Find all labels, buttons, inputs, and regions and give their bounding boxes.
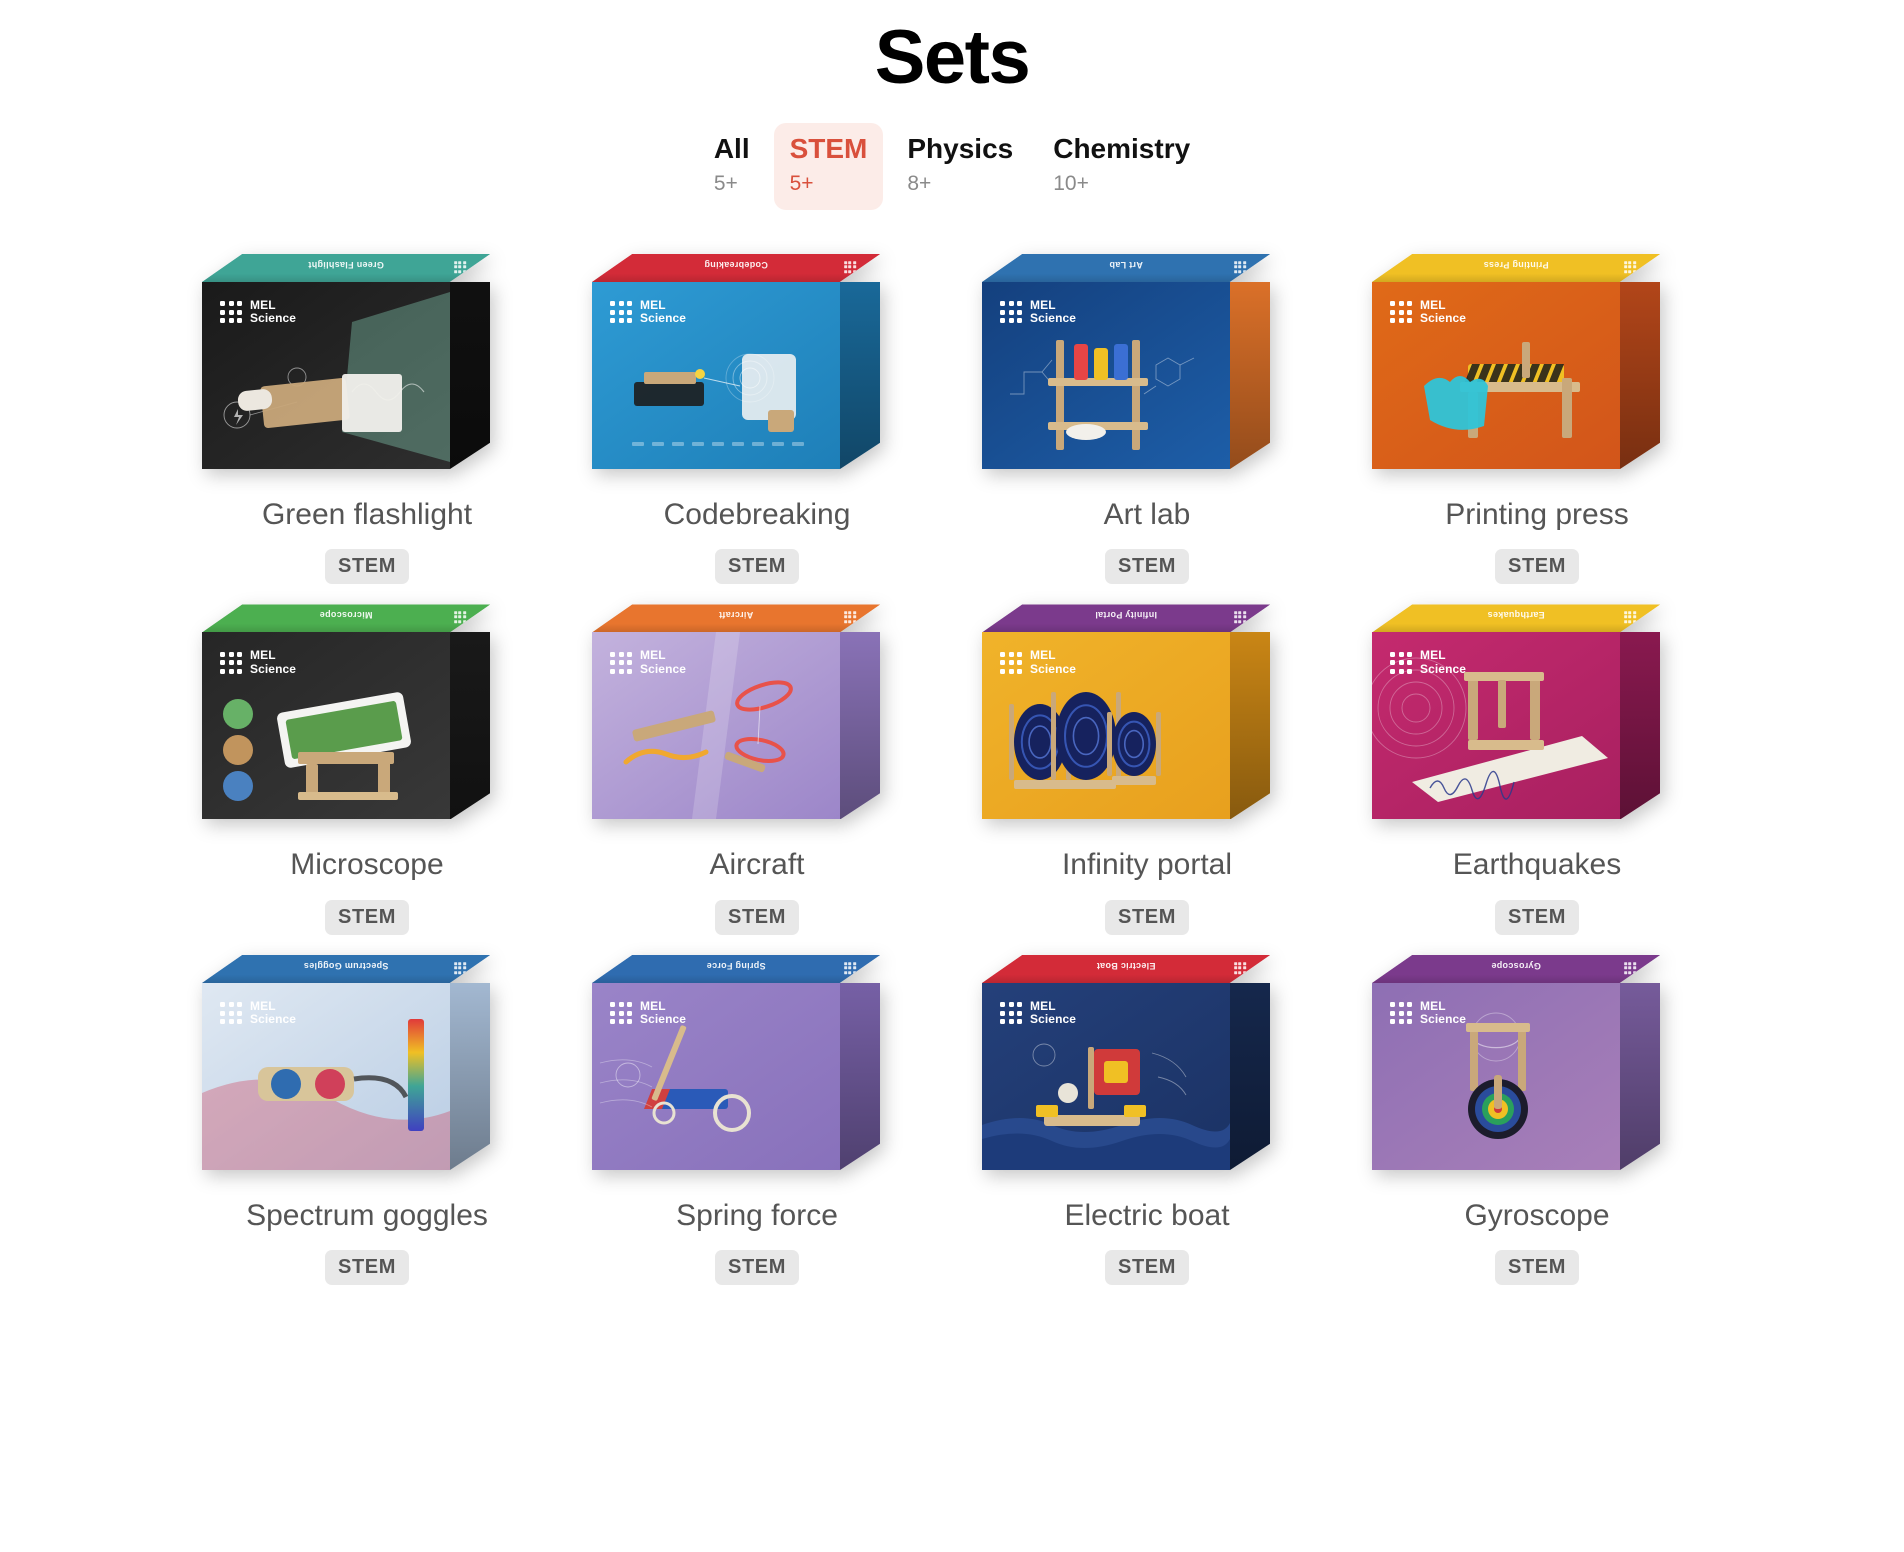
box-lid: Codebreaking (592, 254, 880, 282)
logo-wordmark: MEL Science (1030, 1000, 1076, 1027)
set-box-image: Infinity Portal (982, 604, 1312, 834)
lid-dot-marker-icon (1624, 962, 1636, 974)
logo-dot-grid-icon (220, 301, 242, 323)
filter-tab-age: 10+ (1053, 169, 1190, 198)
set-title: Spring force (676, 1197, 838, 1235)
box-side-fill (1230, 282, 1270, 469)
filter-tab-all[interactable]: All5+ (698, 123, 766, 210)
box-front-face: MEL Science (592, 983, 840, 1170)
mel-science-logo: MEL Science (220, 1000, 296, 1027)
set-title: Art lab (1104, 496, 1191, 534)
filter-tab-label: All (714, 133, 750, 165)
set-title: Green flashlight (262, 496, 472, 534)
set-category-badge: STEM (715, 549, 799, 584)
box-front-face: MEL Science (1372, 282, 1620, 469)
lid-dot-marker-icon (454, 962, 466, 974)
logo-line-1: MEL (1420, 649, 1466, 662)
sets-page: Sets All5+STEM5+Physics8+Chemistry10+ Gr… (0, 0, 1904, 1552)
box-lid: Infinity Portal (982, 604, 1270, 632)
logo-dot-grid-icon (1390, 1002, 1412, 1024)
set-category-badge: STEM (325, 549, 409, 584)
set-box-image: Earthquakes M (1372, 604, 1702, 834)
lid-dot-marker-icon (454, 261, 466, 273)
box-front-face: MEL Science (1372, 632, 1620, 819)
logo-line-2: Science (1420, 663, 1466, 676)
set-box-image: Microscope ME (202, 604, 532, 834)
product-box: Art Lab MEL (982, 254, 1270, 469)
mel-science-logo: MEL Science (1000, 649, 1076, 676)
logo-line-1: MEL (640, 299, 686, 312)
box-side-fill (1230, 983, 1270, 1170)
box-side-fill (450, 983, 490, 1170)
logo-wordmark: MEL Science (1030, 299, 1076, 326)
lid-dot-marker-icon (1624, 611, 1636, 623)
box-front-face: MEL Science (592, 282, 840, 469)
logo-line-1: MEL (1030, 1000, 1076, 1013)
box-side-fill (1620, 282, 1660, 469)
box-side-fill (450, 282, 490, 469)
set-card-aircraft[interactable]: Aircraft MEL (562, 604, 952, 935)
set-title: Printing press (1445, 496, 1628, 534)
lid-dot-marker-icon (844, 962, 856, 974)
product-box: Microscope ME (202, 604, 490, 819)
logo-wordmark: MEL Science (1420, 649, 1466, 676)
box-lid-title: Earthquakes (1372, 610, 1660, 620)
logo-dot-grid-icon (1390, 652, 1412, 674)
logo-line-2: Science (640, 663, 686, 676)
logo-wordmark: MEL Science (1030, 649, 1076, 676)
logo-line-1: MEL (250, 1000, 296, 1013)
set-card-art-lab[interactable]: Art Lab MEL (952, 254, 1342, 585)
box-front-face: MEL Science (982, 632, 1230, 819)
set-category-badge: STEM (325, 1250, 409, 1285)
box-side-fill (1620, 632, 1660, 819)
box-lid-title: Electric Boat (982, 961, 1270, 971)
set-card-infinity-portal[interactable]: Infinity Portal (952, 604, 1342, 935)
product-box: Green Flashlight (202, 254, 490, 469)
box-lid-title: Art Lab (982, 260, 1270, 270)
filter-tab-age: 5+ (714, 169, 750, 198)
logo-dot-grid-icon (610, 652, 632, 674)
lid-dot-marker-icon (1234, 962, 1246, 974)
logo-wordmark: MEL Science (250, 299, 296, 326)
box-side-fill (450, 632, 490, 819)
box-side-face (1620, 983, 1660, 1170)
logo-wordmark: MEL Science (640, 649, 686, 676)
filter-tab-age: 8+ (907, 169, 1013, 198)
set-category-badge: STEM (1105, 900, 1189, 935)
product-box: Aircraft MEL (592, 604, 880, 819)
set-category-badge: STEM (1495, 1250, 1579, 1285)
box-lid: Spring Force (592, 955, 880, 983)
product-box: Spring Force (592, 955, 880, 1170)
product-box: Printing Press (1372, 254, 1660, 469)
set-card-spring-force[interactable]: Spring Force (562, 955, 952, 1286)
box-side-fill (840, 282, 880, 469)
box-lid: Printing Press (1372, 254, 1660, 282)
box-front-face: MEL Science (202, 632, 450, 819)
logo-dot-grid-icon (1000, 1002, 1022, 1024)
box-lid: Electric Boat (982, 955, 1270, 983)
logo-line-2: Science (250, 312, 296, 325)
box-side-face (1230, 282, 1270, 469)
box-lid: Art Lab (982, 254, 1270, 282)
logo-line-2: Science (1030, 312, 1076, 325)
set-category-badge: STEM (715, 1250, 799, 1285)
logo-dot-grid-icon (1390, 301, 1412, 323)
box-lid-title: Codebreaking (592, 260, 880, 270)
logo-dot-grid-icon (1000, 652, 1022, 674)
logo-line-2: Science (640, 1013, 686, 1026)
set-title: Aircraft (709, 846, 804, 884)
box-lid: Gyroscope (1372, 955, 1660, 983)
box-lid-title: Infinity Portal (982, 610, 1270, 620)
box-side-face (1620, 632, 1660, 819)
mel-science-logo: MEL Science (1390, 299, 1466, 326)
set-card-green-flashlight[interactable]: Green Flashlight (172, 254, 562, 585)
logo-dot-grid-icon (1000, 301, 1022, 323)
set-title: Electric boat (1064, 1197, 1229, 1235)
product-box: Codebreaking (592, 254, 880, 469)
lid-dot-marker-icon (844, 611, 856, 623)
mel-science-logo: MEL Science (220, 649, 296, 676)
filter-tab-label: Chemistry (1053, 133, 1190, 165)
box-side-fill (1620, 983, 1660, 1170)
set-box-image: Gyroscope MEL (1372, 955, 1702, 1185)
set-title: Earthquakes (1453, 846, 1621, 884)
box-lid-title: Spring Force (592, 961, 880, 971)
product-box: Earthquakes M (1372, 604, 1660, 819)
logo-dot-grid-icon (220, 652, 242, 674)
logo-line-1: MEL (640, 649, 686, 662)
box-lid: Spectrum Goggles (202, 955, 490, 983)
set-box-image: Printing Press (1372, 254, 1702, 484)
filter-tabs: All5+STEM5+Physics8+Chemistry10+ (0, 123, 1904, 210)
box-lid-title: Green Flashlight (202, 260, 490, 270)
logo-line-2: Science (1420, 312, 1466, 325)
box-side-fill (1230, 632, 1270, 819)
box-side-face (840, 632, 880, 819)
box-lid: Green Flashlight (202, 254, 490, 282)
set-box-image: Green Flashlight (202, 254, 532, 484)
filter-tab-age: 5+ (790, 169, 868, 198)
set-category-badge: STEM (1495, 549, 1579, 584)
mel-science-logo: MEL Science (1390, 649, 1466, 676)
logo-line-1: MEL (250, 649, 296, 662)
logo-wordmark: MEL Science (250, 649, 296, 676)
set-title: Microscope (290, 846, 443, 884)
set-category-badge: STEM (1105, 1250, 1189, 1285)
mel-science-logo: MEL Science (1390, 1000, 1466, 1027)
box-lid-title: Gyroscope (1372, 961, 1660, 971)
set-title: Gyroscope (1464, 1197, 1609, 1235)
box-front-face: MEL Science (202, 983, 450, 1170)
set-card-spectrum-goggles[interactable]: Spectrum Goggles (172, 955, 562, 1286)
box-side-face (450, 282, 490, 469)
logo-wordmark: MEL Science (1420, 299, 1466, 326)
set-card-electric-boat[interactable]: Electric Boat (952, 955, 1342, 1286)
set-box-image: Electric Boat (982, 955, 1312, 1185)
mel-science-logo: MEL Science (610, 649, 686, 676)
logo-line-1: MEL (1420, 1000, 1466, 1013)
mel-science-logo: MEL Science (610, 1000, 686, 1027)
box-lid-title: Printing Press (1372, 260, 1660, 270)
set-title: Codebreaking (664, 496, 851, 534)
filter-tab-stem[interactable]: STEM5+ (774, 123, 884, 210)
product-box: Infinity Portal (982, 604, 1270, 819)
set-box-image: Spectrum Goggles (202, 955, 532, 1185)
box-side-face (840, 983, 880, 1170)
product-box: Electric Boat (982, 955, 1270, 1170)
logo-wordmark: MEL Science (250, 1000, 296, 1027)
box-side-fill (840, 983, 880, 1170)
filter-tab-label: Physics (907, 133, 1013, 165)
product-box: Spectrum Goggles (202, 955, 490, 1170)
lid-dot-marker-icon (1234, 261, 1246, 273)
set-card-microscope[interactable]: Microscope ME (172, 604, 562, 935)
set-category-badge: STEM (325, 900, 409, 935)
box-front-face: MEL Science (1372, 983, 1620, 1170)
product-box: Gyroscope MEL (1372, 955, 1660, 1170)
box-front-face: MEL Science (202, 282, 450, 469)
logo-line-1: MEL (250, 299, 296, 312)
lid-dot-marker-icon (844, 261, 856, 273)
logo-dot-grid-icon (610, 1002, 632, 1024)
filter-tab-label: STEM (790, 133, 868, 165)
set-box-image: Art Lab MEL (982, 254, 1312, 484)
logo-dot-grid-icon (610, 301, 632, 323)
filter-tab-physics[interactable]: Physics8+ (891, 123, 1029, 210)
logo-line-1: MEL (1030, 649, 1076, 662)
box-side-face (450, 632, 490, 819)
set-card-gyroscope[interactable]: Gyroscope MEL (1342, 955, 1732, 1286)
box-front-face: MEL Science (982, 282, 1230, 469)
box-side-face (450, 983, 490, 1170)
logo-line-1: MEL (640, 1000, 686, 1013)
logo-dot-grid-icon (220, 1002, 242, 1024)
box-lid: Microscope (202, 604, 490, 632)
set-card-codebreaking[interactable]: Codebreaking (562, 254, 952, 585)
box-lid: Earthquakes (1372, 604, 1660, 632)
logo-line-2: Science (640, 312, 686, 325)
box-lid-title: Spectrum Goggles (202, 961, 490, 971)
logo-line-1: MEL (1030, 299, 1076, 312)
set-title: Spectrum goggles (246, 1197, 488, 1235)
logo-wordmark: MEL Science (1420, 1000, 1466, 1027)
set-box-image: Codebreaking (592, 254, 922, 484)
page-title: Sets (0, 0, 1904, 101)
logo-line-1: MEL (1420, 299, 1466, 312)
set-box-image: Spring Force (592, 955, 922, 1185)
box-front-face: MEL Science (982, 983, 1230, 1170)
filter-tab-chemistry[interactable]: Chemistry10+ (1037, 123, 1206, 210)
set-category-badge: STEM (1105, 549, 1189, 584)
mel-science-logo: MEL Science (610, 299, 686, 326)
box-side-face (840, 282, 880, 469)
logo-wordmark: MEL Science (640, 1000, 686, 1027)
box-front-face: MEL Science (592, 632, 840, 819)
logo-line-2: Science (250, 663, 296, 676)
set-title: Infinity portal (1062, 846, 1232, 884)
logo-line-2: Science (1030, 663, 1076, 676)
lid-dot-marker-icon (1234, 611, 1246, 623)
mel-science-logo: MEL Science (1000, 299, 1076, 326)
lid-dot-marker-icon (1624, 261, 1636, 273)
logo-line-2: Science (250, 1013, 296, 1026)
set-category-badge: STEM (1495, 900, 1579, 935)
sets-grid: Green Flashlight (172, 254, 1732, 1286)
box-side-face (1230, 983, 1270, 1170)
logo-line-2: Science (1030, 1013, 1076, 1026)
logo-wordmark: MEL Science (640, 299, 686, 326)
box-side-face (1230, 632, 1270, 819)
set-category-badge: STEM (715, 900, 799, 935)
box-side-face (1620, 282, 1660, 469)
lid-dot-marker-icon (454, 611, 466, 623)
set-card-printing-press[interactable]: Printing Press (1342, 254, 1732, 585)
set-box-image: Aircraft MEL (592, 604, 922, 834)
box-lid: Aircraft (592, 604, 880, 632)
box-lid-title: Microscope (202, 610, 490, 620)
set-card-earthquakes[interactable]: Earthquakes M (1342, 604, 1732, 935)
box-side-fill (840, 632, 880, 819)
box-lid-title: Aircraft (592, 610, 880, 620)
mel-science-logo: MEL Science (1000, 1000, 1076, 1027)
logo-line-2: Science (1420, 1013, 1466, 1026)
mel-science-logo: MEL Science (220, 299, 296, 326)
